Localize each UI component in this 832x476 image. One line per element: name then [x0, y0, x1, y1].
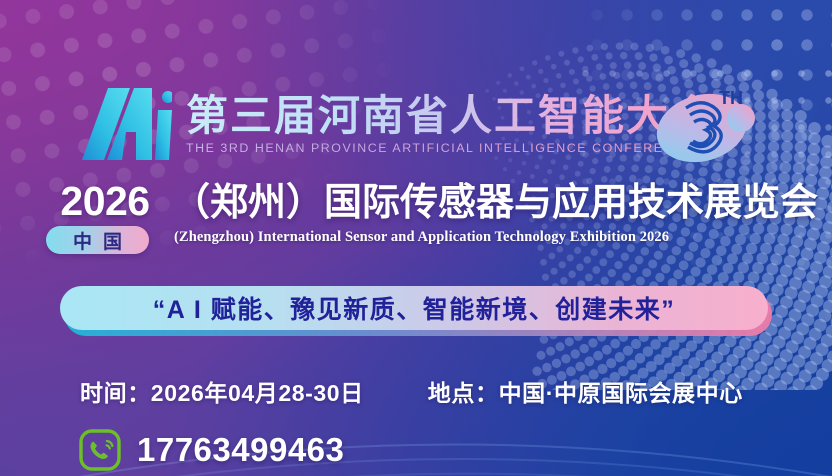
- event-place: 地点：中国·中原国际会展中心: [428, 374, 743, 408]
- conference-title-row: 第三届河南省人工智能大会 THE 3RD HENAN PROVINCE ARTI…: [60, 82, 780, 166]
- contact-row: 17763499463: [78, 428, 344, 472]
- conference-title-cn: 第三届河南省人工智能大会: [186, 93, 714, 138]
- country-pill-china: 中国: [46, 226, 149, 254]
- event-info-row: 时间：2026年04月28-30日 地点：中国·中原国际会展中心: [80, 374, 780, 408]
- year-column: 2026 中国: [46, 182, 164, 254]
- exhibition-name-cn: （郑州）国际传感器与应用技术展览会: [172, 182, 818, 222]
- contact-phone-number: 17763499463: [137, 431, 344, 469]
- exhibition-name-row: 2026 中国 （郑州）国际传感器与应用技术展览会 (Zhengzhou) In…: [46, 182, 806, 254]
- conference-title-en: THE 3RD HENAN PROVINCE ARTIFICIAL INTELL…: [186, 141, 714, 155]
- phone-call-icon: [78, 428, 122, 472]
- exhibition-year: 2026: [46, 182, 164, 221]
- exhibition-name-en: (Zhengzhou) International Sensor and App…: [172, 229, 818, 246]
- event-time: 时间：2026年04月28-30日: [80, 374, 364, 408]
- edition-badge-suffix: TH: [719, 88, 743, 108]
- title-text-block: 第三届河南省人工智能大会 THE 3RD HENAN PROVINCE ARTI…: [186, 93, 714, 155]
- ai-logo-icon: [60, 82, 172, 166]
- exhibition-name-column: （郑州）国际传感器与应用技术展览会 (Zhengzhou) Internatio…: [172, 182, 818, 246]
- conference-poster: 第三届河南省人工智能大会 THE 3RD HENAN PROVINCE ARTI…: [0, 0, 832, 476]
- slogan-banner: “A I 赋能、豫见新质、智能新境、创建未来”: [60, 286, 772, 332]
- slogan-text: “A I 赋能、豫见新质、智能新境、创建未来”: [60, 286, 768, 330]
- edition-badge-3th: TH: [648, 76, 760, 172]
